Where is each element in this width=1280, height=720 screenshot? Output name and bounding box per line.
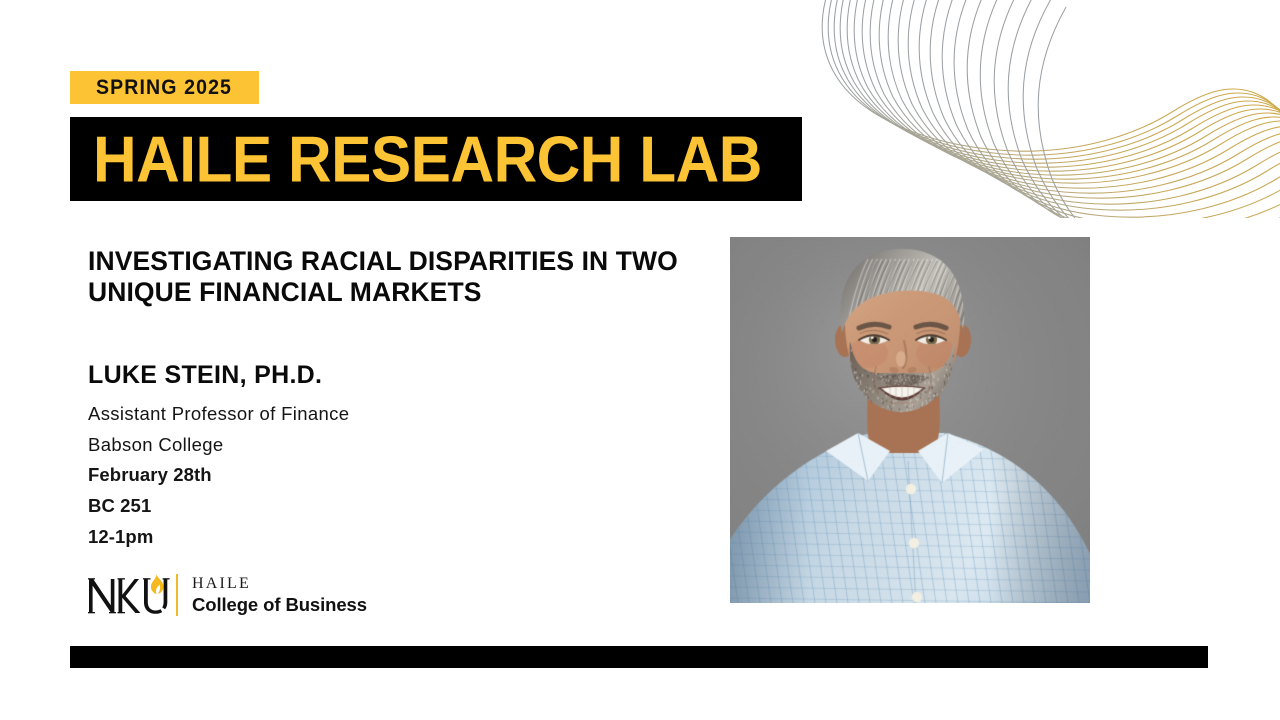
footer-bar bbox=[70, 646, 1208, 668]
speaker-portrait-image bbox=[730, 237, 1090, 603]
talk-title: INVESTIGATING RACIAL DISPARITIES IN TWO … bbox=[88, 246, 698, 309]
lab-banner: HAILE RESEARCH LAB bbox=[70, 117, 802, 201]
term-badge-label: SPRING 2025 bbox=[96, 76, 232, 100]
event-date: February 28th bbox=[88, 460, 688, 491]
logo-divider bbox=[176, 574, 178, 616]
speaker-details: LUKE STEIN, PH.D. Assistant Professor of… bbox=[88, 360, 688, 553]
speaker-role: Assistant Professor of Finance bbox=[88, 399, 688, 430]
term-badge: SPRING 2025 bbox=[70, 71, 259, 104]
slide-canvas: SPRING 2025 HAILE RESEARCH LAB INVESTIGA… bbox=[0, 0, 1280, 720]
speaker-name: LUKE STEIN, PH.D. bbox=[88, 360, 688, 390]
lab-banner-title: HAILE RESEARCH LAB bbox=[93, 126, 762, 191]
event-room: BC 251 bbox=[88, 491, 688, 522]
speaker-affiliation: Babson College bbox=[88, 430, 688, 461]
logo-haile-text: HAILE bbox=[192, 575, 367, 593]
nku-haile-logo-lockup: HAILE College of Business bbox=[88, 572, 367, 618]
event-time: 12-1pm bbox=[88, 522, 688, 553]
logo-wordmark: HAILE College of Business bbox=[192, 575, 367, 616]
speaker-portrait bbox=[730, 237, 1090, 603]
nku-flame-icon bbox=[88, 573, 170, 617]
logo-college-text: College of Business bbox=[192, 594, 367, 615]
wave-decoration-graphic bbox=[800, 0, 1280, 218]
